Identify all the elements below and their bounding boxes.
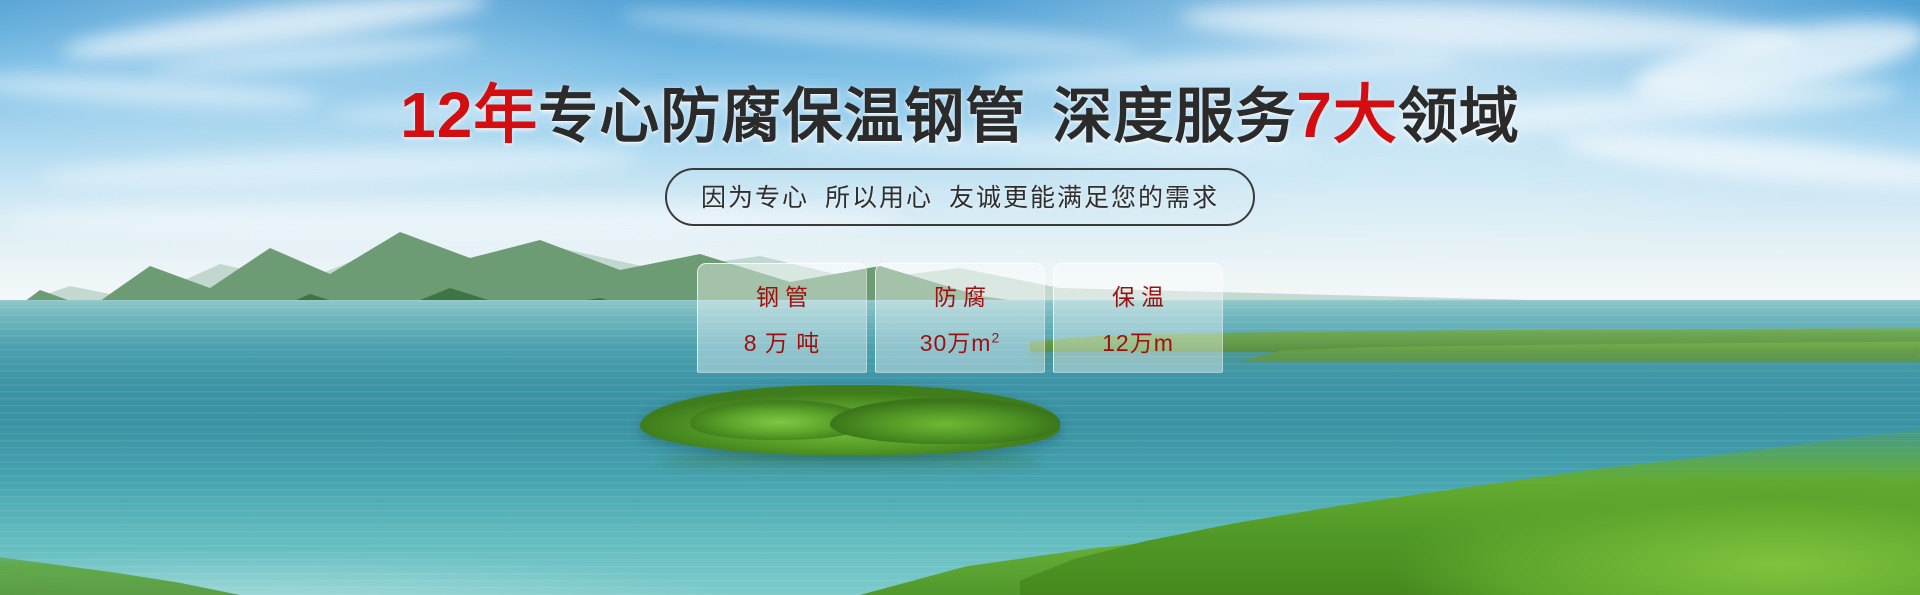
stat-card-value: 8 万 吨 bbox=[744, 324, 821, 358]
stat-card-steel-pipe[interactable]: 钢管 8 万 吨 bbox=[697, 263, 867, 373]
stat-card-anticorrosion[interactable]: 防腐 30万m2 bbox=[875, 263, 1045, 373]
stat-card-insulation[interactable]: 保温 12万m bbox=[1053, 263, 1223, 373]
headline-main: 专心防腐保温钢管 bbox=[538, 83, 1026, 150]
stat-card-label: 防腐 bbox=[928, 278, 992, 312]
headline-fields: 领域 bbox=[1398, 83, 1520, 150]
stat-card-list: 钢管 8 万 吨 防腐 30万m2 保温 12万m bbox=[0, 263, 1920, 373]
stat-card-label: 钢管 bbox=[750, 278, 814, 312]
headline-service: 深度服务 bbox=[1052, 83, 1296, 150]
headline-da: 大 bbox=[1333, 79, 1398, 151]
subtitle-pill: 因为专心所以用心友诚更能满足您的需求 bbox=[665, 168, 1255, 226]
stat-card-value: 12万m bbox=[1102, 324, 1174, 358]
stat-card-value-sup: 2 bbox=[991, 329, 1000, 345]
subtitle-part-1: 因为专心 bbox=[701, 184, 809, 212]
stat-card-label: 保温 bbox=[1106, 278, 1170, 312]
promo-banner: 12年专心防腐保温钢管深度服务7大领域 因为专心所以用心友诚更能满足您的需求 钢… bbox=[0, 0, 1920, 595]
subtitle-part-3: 友诚更能满足您的需求 bbox=[949, 184, 1219, 212]
banner-content: 12年专心防腐保温钢管深度服务7大领域 因为专心所以用心友诚更能满足您的需求 钢… bbox=[0, 0, 1920, 595]
stat-card-value-main: 8 万 吨 bbox=[744, 330, 821, 356]
stat-card-value: 30万m2 bbox=[920, 324, 1001, 358]
stat-card-value-main: 12万m bbox=[1102, 330, 1174, 356]
headline-count: 7 bbox=[1296, 79, 1333, 151]
subtitle-part-2: 所以用心 bbox=[825, 184, 933, 212]
headline-years: 12年 bbox=[400, 79, 538, 151]
headline: 12年专心防腐保温钢管深度服务7大领域 bbox=[0, 83, 1920, 147]
subtitle-container: 因为专心所以用心友诚更能满足您的需求 bbox=[0, 168, 1920, 226]
stat-card-value-main: 30万m bbox=[920, 330, 992, 356]
